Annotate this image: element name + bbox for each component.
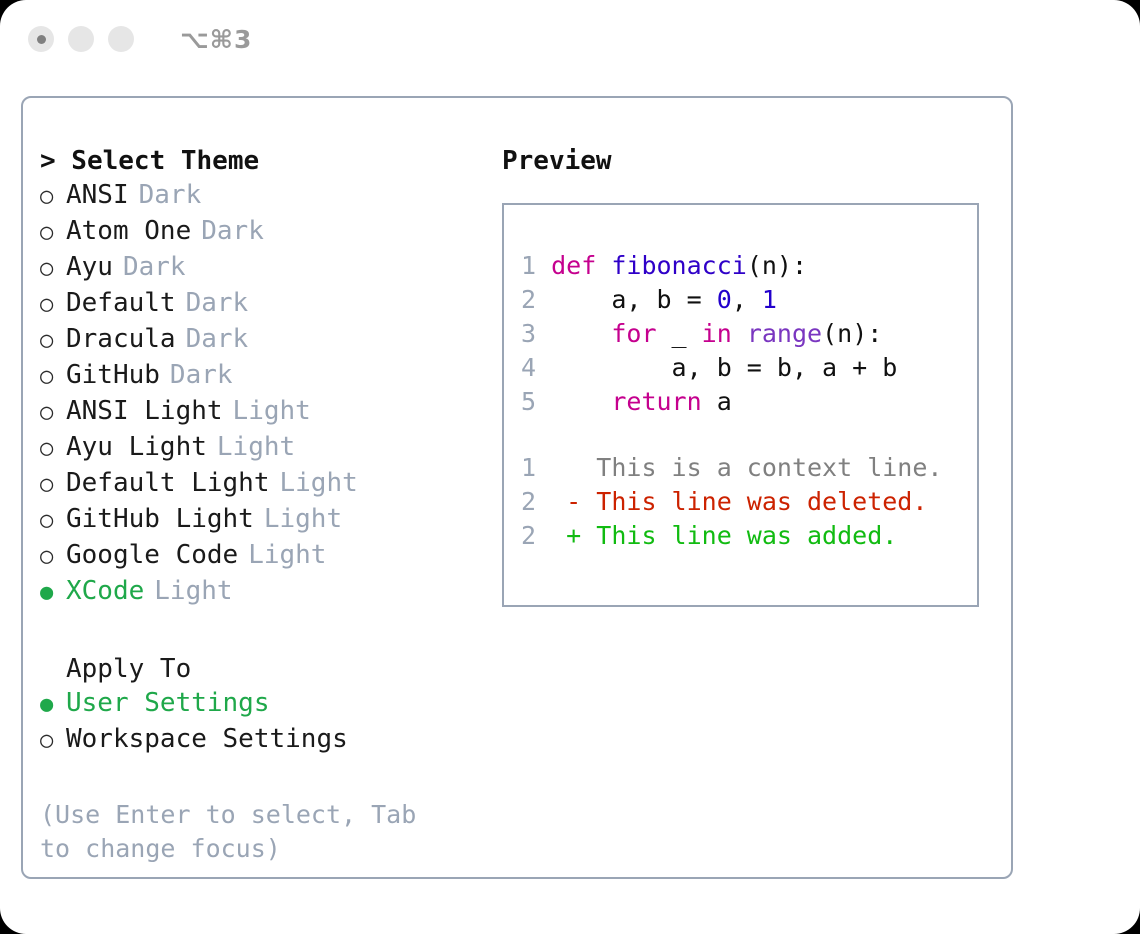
keyboard-hint-text: (Use Enter to select, Tab to change focu… [40, 798, 440, 866]
diff-sign-marker: - [566, 487, 581, 516]
code-line: 4 a, b = b, a + b [521, 351, 971, 385]
code-token-num: 1 [762, 285, 777, 314]
diff-gutter-space [536, 487, 566, 516]
code-token-fn: fibonacci [611, 251, 746, 280]
theme-option-google-code[interactable]: ○Google CodeLight [40, 538, 480, 574]
code-token-plain [551, 319, 611, 348]
diff-line-ctx: 1 This is a context line. [521, 451, 971, 485]
theme-option-dracula[interactable]: ○DraculaDark [40, 322, 480, 358]
code-token-kw: in [702, 319, 732, 348]
diff-line-text: This line was added. [581, 521, 897, 550]
radio-unselected-icon: ○ [40, 432, 66, 466]
radio-unselected-icon: ○ [40, 288, 66, 322]
code-token-kw: for [611, 319, 656, 348]
traffic-light-1[interactable] [28, 26, 54, 52]
theme-option-label: Default Light [66, 466, 270, 500]
code-line: 2 a, b = 0, 1 [521, 283, 971, 317]
code-token-plain: a, b = [551, 285, 717, 314]
diff-sign-marker [566, 453, 581, 482]
traffic-light-3[interactable] [108, 26, 134, 52]
code-line-number: 4 [521, 353, 536, 382]
theme-option-kind-badge: Light [154, 574, 232, 608]
diff-line-number: 2 [521, 487, 536, 516]
radio-unselected-icon: ○ [40, 324, 66, 358]
radio-unselected-icon: ○ [40, 724, 66, 758]
preview-heading: Preview [502, 144, 992, 178]
radio-unselected-icon: ○ [40, 468, 66, 502]
code-token-plain: a, b = b, a + b [551, 353, 897, 382]
theme-option-kind-badge: Light [248, 538, 326, 572]
code-line-number: 1 [521, 251, 536, 280]
traffic-light-2[interactable] [68, 26, 94, 52]
theme-option-label: GitHub [66, 358, 160, 392]
code-line-number: 3 [521, 319, 536, 348]
theme-option-github-light[interactable]: ○GitHub LightLight [40, 502, 480, 538]
code-token-plain: (n): [822, 319, 882, 348]
main-panel: > Select Theme ○ANSIDark○Atom OneDark○Ay… [21, 96, 1013, 879]
theme-option-ansi[interactable]: ○ANSIDark [40, 178, 480, 214]
diff-sign-marker: + [566, 521, 581, 550]
diff-line-number: 2 [521, 521, 536, 550]
title-bar: ⌥⌘3 [0, 0, 1140, 78]
theme-option-kind-badge: Light [264, 502, 342, 536]
theme-option-atom-one[interactable]: ○Atom OneDark [40, 214, 480, 250]
theme-option-default[interactable]: ○DefaultDark [40, 286, 480, 322]
code-preview-area: 1 def fibonacci(n):2 a, b = 0, 13 for _ … [521, 249, 971, 553]
code-token-plain [732, 319, 747, 348]
radio-unselected-icon: ○ [40, 360, 66, 394]
code-line-number: 5 [521, 387, 536, 416]
code-token-kw: return [611, 387, 701, 416]
theme-option-github[interactable]: ○GitHubDark [40, 358, 480, 394]
code-token-plain [551, 387, 611, 416]
diff-line-add: 2 + This line was added. [521, 519, 971, 553]
radio-unselected-icon: ○ [40, 252, 66, 286]
apply-to-option-workspace-settings[interactable]: ○Workspace Settings [40, 722, 480, 758]
code-gutter-space [536, 285, 551, 314]
theme-selection-column: > Select Theme ○ANSIDark○Atom OneDark○Ay… [40, 144, 480, 866]
theme-option-xcode[interactable]: ●XCodeLight [40, 574, 480, 610]
theme-option-kind-badge: Dark [186, 322, 249, 356]
code-token-builtin: range [747, 319, 822, 348]
theme-option-label: ANSI Light [66, 394, 223, 428]
diff-line-text: This is a context line. [581, 453, 942, 482]
radio-unselected-icon: ○ [40, 540, 66, 574]
theme-option-default-light[interactable]: ○Default LightLight [40, 466, 480, 502]
apply-to-option-label: Workspace Settings [66, 722, 348, 756]
theme-option-kind-badge: Dark [123, 250, 186, 284]
traffic-light-active-dot [37, 35, 46, 44]
keyboard-shortcut-label: ⌥⌘3 [180, 25, 252, 54]
preview-box: 1 def fibonacci(n):2 a, b = 0, 13 for _ … [502, 203, 979, 607]
radio-unselected-icon: ○ [40, 504, 66, 538]
diff-gutter-space [536, 521, 566, 550]
apply-to-heading: Apply To [40, 652, 480, 686]
theme-option-kind-badge: Dark [170, 358, 233, 392]
diff-line-number: 1 [521, 453, 536, 482]
code-token-plain: _ [657, 319, 702, 348]
panel-body: > Select Theme ○ANSIDark○Atom OneDark○Ay… [23, 98, 1011, 877]
preview-section-gap [521, 419, 971, 451]
code-line-number: 2 [521, 285, 536, 314]
code-gutter-space [536, 353, 551, 382]
code-line: 1 def fibonacci(n): [521, 249, 971, 283]
radio-unselected-icon: ○ [40, 396, 66, 430]
code-token-plain [596, 251, 611, 280]
preview-column: Preview 1 def fibonacci(n):2 a, b = 0, 1… [502, 144, 992, 607]
theme-option-kind-badge: Dark [139, 178, 202, 212]
theme-option-kind-badge: Light [233, 394, 311, 428]
code-token-kw: def [551, 251, 596, 280]
code-line: 5 return a [521, 385, 971, 419]
apply-to-option-label: User Settings [66, 686, 270, 720]
code-token-plain: , [732, 285, 762, 314]
theme-option-ayu[interactable]: ○AyuDark [40, 250, 480, 286]
code-gutter-space [536, 319, 551, 348]
diff-gutter-space [536, 453, 566, 482]
theme-option-label: GitHub Light [66, 502, 254, 536]
theme-option-kind-badge: Dark [201, 214, 264, 248]
theme-option-ansi-light[interactable]: ○ANSI LightLight [40, 394, 480, 430]
app-window: ⌥⌘3 > Select Theme ○ANSIDark○Atom OneDar… [0, 0, 1140, 934]
theme-option-ayu-light[interactable]: ○Ayu LightLight [40, 430, 480, 466]
code-line: 3 for _ in range(n): [521, 317, 971, 351]
theme-option-label: Ayu [66, 250, 113, 284]
code-token-num: 0 [717, 285, 732, 314]
apply-to-section: Apply To ●User Settings○Workspace Settin… [40, 652, 480, 758]
radio-selected-icon: ● [40, 688, 66, 722]
theme-option-kind-badge: Dark [186, 286, 249, 320]
theme-option-label: ANSI [66, 178, 129, 212]
theme-option-label: Ayu Light [66, 430, 207, 464]
radio-unselected-icon: ○ [40, 216, 66, 250]
code-gutter-space [536, 387, 551, 416]
theme-option-label: XCode [66, 574, 144, 608]
theme-option-list: ○ANSIDark○Atom OneDark○AyuDark○DefaultDa… [40, 178, 480, 610]
radio-selected-icon: ● [40, 576, 66, 610]
select-theme-heading: > Select Theme [40, 144, 480, 178]
theme-option-label: Atom One [66, 214, 191, 248]
code-token-plain: a [702, 387, 732, 416]
apply-to-option-user-settings[interactable]: ●User Settings [40, 686, 480, 722]
radio-unselected-icon: ○ [40, 180, 66, 214]
diff-line-text: This line was deleted. [581, 487, 927, 516]
diff-line-del: 2 - This line was deleted. [521, 485, 971, 519]
theme-option-label: Dracula [66, 322, 176, 356]
theme-option-label: Default [66, 286, 176, 320]
apply-to-option-list: ●User Settings○Workspace Settings [40, 686, 480, 758]
theme-option-kind-badge: Light [217, 430, 295, 464]
code-token-plain: (n): [747, 251, 807, 280]
theme-option-kind-badge: Light [280, 466, 358, 500]
code-gutter-space [536, 251, 551, 280]
theme-option-label: Google Code [66, 538, 238, 572]
